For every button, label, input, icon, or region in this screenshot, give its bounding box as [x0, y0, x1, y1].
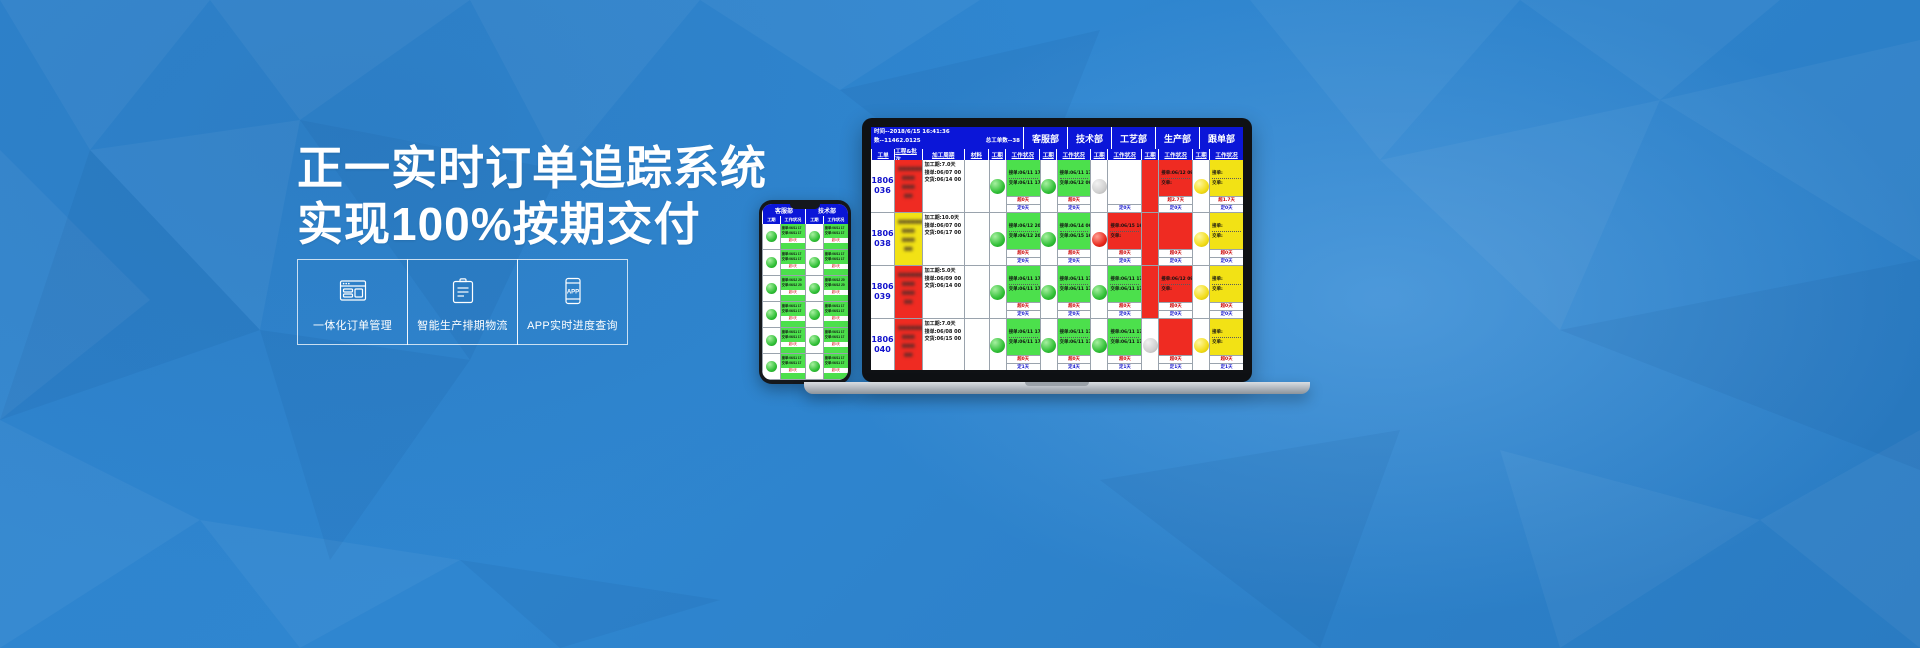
work-status-cell-工艺部: 接单:06/15 16交单:超0天定0天: [1107, 213, 1141, 265]
feature-item-order-management[interactable]: 一体化订单管理: [297, 259, 408, 345]
phone-status-cell: 接单:06/12 20交单:06/12 20超0天: [823, 276, 848, 301]
deliver-date: 交单:06/11 17: [825, 335, 847, 340]
deliver-date: 交单:06/11 17: [782, 335, 804, 340]
topbar-count: 数--11462.0125: [874, 137, 921, 146]
phone-status-cell: 接单:06/12 20交单:06/12 20超0天: [780, 276, 805, 301]
duration-cell-工艺部: [1090, 160, 1107, 212]
overdue-tag: 超0天: [1007, 249, 1040, 257]
date-separator: [1060, 231, 1089, 232]
duration-cell-跟单部: [1192, 266, 1209, 318]
work-status-cell-工艺部: 接单:06/11 17交单:06/11 17超0天定1天: [1107, 319, 1141, 370]
phone-duration-cell: [805, 224, 823, 249]
deliver-date: 交单:06/11 17: [1110, 286, 1139, 293]
phone-overdue-tag: 超0天: [824, 238, 848, 243]
due-tag: 定0天: [1210, 310, 1243, 318]
deliver-date: 交单:06/12 20: [825, 283, 847, 288]
phone-col-duration: 工期: [805, 216, 823, 224]
feature-item-production-scheduling[interactable]: 智能生产排期物流: [407, 259, 518, 345]
phone-status-cell: 接单:06/11 17交单:06/11 17超0天: [780, 250, 805, 275]
work-status-cell-生产部: 接单:06/12 09交单:超2.7天定0天: [1158, 160, 1192, 212]
cycle-line: 加工期:5.0天: [925, 268, 962, 276]
phone-screen: 客服部 技术部 工期 工作状况 工期 工作状况 接单:06/11 17交单:06…: [762, 204, 848, 380]
wo-suffix: 040: [874, 345, 891, 355]
processing-cycle-cell: 加工期:7.0天接单:06/08 00交货:06/15 00: [922, 319, 964, 370]
deliver-date: 交单:: [1110, 233, 1139, 240]
project-batch-cell: ■■■■■■■■■■■■ ■■: [894, 160, 922, 212]
phone-overdue-tag: 超0天: [824, 290, 848, 295]
cycle-line: 接单:06/08 00: [925, 329, 962, 337]
status-dot-green: [809, 361, 820, 372]
table-row[interactable]: 1806036■■■■■■■■■■■■ ■■加工期:7.0天接单:06/07 0…: [871, 160, 1243, 213]
deliver-date: 交单:06/11 17: [1009, 180, 1038, 187]
topbar-total: 总工单数--38: [986, 137, 1020, 146]
deliver-date: 交单:06/11 17: [1110, 339, 1139, 346]
phone-overdue-tag: 超0天: [824, 316, 848, 321]
deliver-date: 交单:06/15 16: [1060, 233, 1089, 240]
status-dot-green: [990, 179, 1005, 194]
overdue-tag: 超0天: [1058, 355, 1091, 363]
phone-status-cell: 接单:06/11 17交单:06/11 17超0天: [823, 302, 848, 327]
status-dot-green: [766, 257, 777, 268]
work-status-cell-跟单部: 接单:交单:超0天定1天: [1209, 319, 1243, 370]
wo-suffix: 036: [874, 186, 891, 196]
date-separator: [1212, 337, 1241, 338]
duration-cell-客服部: [989, 319, 1006, 370]
overdue-tag: 超0天: [1210, 249, 1243, 257]
feature-label: 一体化订单管理: [313, 317, 392, 333]
svg-text:APP: APP: [566, 289, 578, 295]
date-separator: [1060, 284, 1089, 285]
cycle-line: 交货:06/14 00: [925, 177, 962, 185]
cycle-line: 加工期:7.0天: [925, 162, 962, 170]
date-separator: [1212, 231, 1241, 232]
headline-line-1: 正一实时订单追踪系统: [297, 140, 717, 196]
cycle-line: 交货:06/14 00: [925, 283, 962, 291]
status-dot-green: [1092, 338, 1107, 353]
status-dot-yel: [1194, 338, 1209, 353]
due-tag: 定1天: [1210, 363, 1243, 370]
phone-duration-cell: [762, 354, 780, 379]
laptop-base: [804, 382, 1310, 394]
phone-duration-cell: [762, 276, 780, 301]
phone-overdue-tag: 超0天: [781, 342, 805, 347]
date-separator: [1009, 337, 1038, 338]
date-separator: [1212, 284, 1241, 285]
duration-cell-客服部: [989, 160, 1006, 212]
cycle-line: 接单:06/07 00: [925, 170, 962, 178]
work-status-cell-跟单部: 接单:交单:超0天定0天: [1209, 266, 1243, 318]
wo-suffix: 038: [874, 239, 891, 249]
due-tag: 定1天: [1007, 363, 1040, 370]
status-dot-green: [809, 231, 820, 242]
phone-col-status: 工作状况: [823, 216, 848, 224]
phone-status-cell: 接单:06/11 17交单:06/11 17超0天: [780, 224, 805, 249]
project-batch-cell: ■■■■■■■■■■■■ ■■: [894, 213, 922, 265]
receive-date: 接单:06/12 09: [1161, 170, 1190, 177]
status-dot-grey: [1092, 179, 1107, 194]
cycle-line: 加工期:7.0天: [925, 321, 962, 329]
table-row[interactable]: 1806040■■■■■■■■■■■■ ■■加工期:7.0天接单:06/08 0…: [871, 319, 1243, 370]
work-status-cell-客服部: 接单:06/12 20交单:06/12 20超0天定0天: [1006, 213, 1040, 265]
headline-line-2: 实现100%按期交付: [297, 196, 717, 252]
duration-cell-技术部: [1040, 160, 1057, 212]
status-dot-grey: [1143, 338, 1158, 353]
overdue-tag: 超0天: [1007, 196, 1040, 204]
phone-overdue-tag: 超0天: [781, 238, 805, 243]
phone-status-cell: 接单:06/11 17交单:06/11 17超0天: [823, 354, 848, 379]
deliver-date: 交单:06/11 17: [782, 257, 804, 262]
work-status-cell-技术部: 接单:06/11 17交单:06/12 09超0天定0天: [1057, 160, 1091, 212]
date-separator: [1161, 284, 1190, 285]
date-separator: [1060, 178, 1089, 179]
overdue-tag: 超0天: [1210, 302, 1243, 310]
due-tag: 定0天: [1058, 204, 1091, 212]
table-row[interactable]: 1806039■■■■■■■■■■■■ ■■加工期:5.0天接单:06/09 0…: [871, 266, 1243, 319]
deliver-date: 交单:06/11 17: [825, 231, 847, 236]
phone-column-header: 工期 工作状况 工期 工作状况: [762, 216, 848, 224]
due-tag: 定0天: [1007, 310, 1040, 318]
due-tag: 定0天: [1058, 310, 1091, 318]
date-separator: [1009, 284, 1038, 285]
work-status-cell-工艺部: 接单:06/11 17交单:06/11 17超0天定0天: [1107, 266, 1141, 318]
duration-cell-客服部: [989, 266, 1006, 318]
status-dot-green: [766, 309, 777, 320]
dashboard-topbar: 时间--2018/6/15 16:41:36 数--11462.0125 总工单…: [871, 127, 1243, 149]
overdue-tag: 超0天: [1159, 302, 1192, 310]
department-header: 技术部: [1067, 127, 1111, 149]
work-status-cell-生产部: 超0天定0天: [1158, 213, 1192, 265]
phone-overdue-tag: 超0天: [824, 264, 848, 269]
status-dot-green: [1092, 285, 1107, 300]
status-dot-yel: [1194, 285, 1209, 300]
department-header: 生产部: [1155, 127, 1199, 149]
due-tag: 定0天: [1108, 257, 1141, 265]
receive-date: 接单:: [1212, 329, 1241, 336]
work-status-cell-跟单部: 接单:交单:超0天定0天: [1209, 213, 1243, 265]
duration-cell-技术部: [1040, 213, 1057, 265]
deliver-date: 交单:06/11 17: [1009, 286, 1038, 293]
overdue-tag: 超0天: [1159, 249, 1192, 257]
dashboard-screen: 时间--2018/6/15 16:41:36 数--11462.0125 总工单…: [871, 127, 1243, 370]
overdue-tag: 超0天: [1007, 302, 1040, 310]
deliver-date: 交单:: [1161, 286, 1190, 293]
deliver-date: 交单:06/11 17: [782, 231, 804, 236]
column-header: 加工周期: [922, 149, 964, 160]
receive-date: 接单:06/11 17: [1060, 329, 1089, 336]
deliver-date: 交单:: [1161, 180, 1190, 187]
duration-cell-工艺部: [1090, 319, 1107, 370]
due-tag: 定0天: [1210, 204, 1243, 212]
cycle-line: 加工期:10.0天: [925, 215, 962, 223]
duration-cell-技术部: [1040, 319, 1057, 370]
phone-table-row[interactable]: 接单:06/11 17交单:06/11 17超0天接单:06/11 17交单:0…: [762, 328, 848, 354]
material-cell: [964, 160, 989, 212]
status-dot-green: [809, 257, 820, 268]
status-dot-green: [990, 232, 1005, 247]
phone-table-row[interactable]: 接单:06/11 17交单:06/11 17超0天接单:06/11 17交单:0…: [762, 224, 848, 250]
wo-prefix: 1806: [871, 176, 893, 186]
phone-overdue-tag: 超0天: [824, 342, 848, 347]
overdue-tag: 超0天: [1058, 249, 1091, 257]
column-header: 工单: [871, 149, 894, 160]
laptop-mockup: 时间--2018/6/15 16:41:36 数--11462.0125 总工单…: [862, 118, 1310, 394]
phone-table-row[interactable]: 接单:06/12 20交单:06/12 20超0天接单:06/12 20交单:0…: [762, 276, 848, 302]
work-status-cell-技术部: 接单:06/11 17交单:06/11 17超0天定0天: [1057, 266, 1091, 318]
hero-banner: 正一实时订单追踪系统 实现100%按期交付 一体化订单管理: [0, 0, 1920, 648]
date-separator: [1110, 284, 1139, 285]
table-row[interactable]: 1806038■■■■■■■■■■■■ ■■加工期:10.0天接单:06/07 …: [871, 213, 1243, 266]
work-status-cell-客服部: 接单:06/11 17交单:06/11 17超0天定1天: [1006, 319, 1040, 370]
receive-date: 接单:06/11 17: [1060, 276, 1089, 283]
phone-overdue-tag: 超0天: [781, 264, 805, 269]
receive-date: 接单:06/11 17: [1009, 329, 1038, 336]
status-dot-red: [1092, 232, 1107, 247]
deliver-date: 交单:06/11 17: [825, 361, 847, 366]
hero-copy: 正一实时订单追踪系统 实现100%按期交付: [297, 140, 717, 252]
project-batch-cell: ■■■■■■■■■■■■ ■■: [894, 266, 922, 318]
department-header: 跟单部: [1199, 127, 1243, 149]
due-tag: 定0天: [1159, 204, 1192, 212]
deliver-date: 交单:06/11 17: [825, 309, 847, 314]
phone-notch: [790, 204, 820, 209]
receive-date: 接单:06/11 17: [1009, 170, 1038, 177]
phone-duration-cell: [805, 276, 823, 301]
phone-duration-cell: [805, 328, 823, 353]
cycle-line: 接单:06/07 00: [925, 223, 962, 231]
status-dot-yel: [1194, 232, 1209, 247]
department-header: 客服部: [1023, 127, 1067, 149]
due-tag: 定0天: [1007, 204, 1040, 212]
phone-col-status: 工作状况: [780, 216, 805, 224]
duration-cell-跟单部: [1192, 160, 1209, 212]
deliver-date: 交单:06/11 17: [1060, 339, 1089, 346]
column-header: 工期: [988, 149, 1005, 160]
work-status-cell-客服部: 接单:06/11 17交单:06/11 17超0天定0天: [1006, 266, 1040, 318]
deliver-date: 交单:06/12 09: [1060, 180, 1089, 187]
due-tag: 定0天: [1159, 310, 1192, 318]
cycle-line: 交货:06/15 00: [925, 336, 962, 344]
topbar-meta: 时间--2018/6/15 16:41:36 数--11462.0125 总工单…: [871, 127, 1023, 149]
date-separator: [1161, 178, 1190, 179]
due-tag: 定4天: [1058, 363, 1091, 370]
receive-date: 接单:: [1212, 223, 1241, 230]
processing-cycle-cell: 加工期:5.0天接单:06/09 00交货:06/14 00: [922, 266, 964, 318]
status-dot-yel: [1194, 179, 1209, 194]
deliver-date: 交单:: [1212, 286, 1241, 293]
phone-duration-cell: [805, 354, 823, 379]
column-header: 工作状况: [1107, 149, 1141, 160]
work-order-cell: 1806036: [871, 160, 894, 212]
phone-duration-cell: [762, 328, 780, 353]
column-header: 工期: [1141, 149, 1158, 160]
laptop-lid: 时间--2018/6/15 16:41:36 数--11462.0125 总工单…: [862, 118, 1252, 382]
overdue-tag: 超0天: [1058, 196, 1091, 204]
work-status-cell-工艺部: 定0天: [1107, 160, 1141, 212]
status-dot-green: [990, 338, 1005, 353]
status-dot-green: [809, 335, 820, 346]
receive-date: 接单:06/11 17: [1110, 329, 1139, 336]
overdue-tag: 超1.7天: [1210, 196, 1243, 204]
phone-overdue-tag: 超0天: [781, 368, 805, 373]
due-tag: 定1天: [1159, 363, 1192, 370]
due-tag: 定0天: [1058, 257, 1091, 265]
date-separator: [1110, 231, 1139, 232]
phone-duration-cell: [805, 250, 823, 275]
phone-mockup: 客服部 技术部 工期 工作状况 工期 工作状况 接单:06/11 17交单:06…: [759, 200, 851, 384]
phone-col-duration: 工期: [762, 216, 780, 224]
phone-overdue-tag: 超0天: [824, 368, 848, 373]
receive-date: 接单:06/11 17: [1009, 276, 1038, 283]
column-header: 工期: [1090, 149, 1107, 160]
deliver-date: 交单:06/11 17: [782, 361, 804, 366]
status-dot-green: [766, 231, 777, 242]
date-separator: [1009, 178, 1038, 179]
feature-item-app-progress-query[interactable]: APP APP实时进度查询: [517, 259, 628, 345]
project-batch-cell: ■■■■■■■■■■■■ ■■: [894, 319, 922, 370]
deliver-date: 交单:06/12 20: [782, 283, 804, 288]
department-header-row: 客服部技术部工艺部生产部跟单部: [1023, 127, 1243, 149]
work-order-cell: 1806038: [871, 213, 894, 265]
duration-cell-工艺部: [1090, 213, 1107, 265]
processing-cycle-cell: 加工期:7.0天接单:06/07 00交货:06/14 00: [922, 160, 964, 212]
date-separator: [1009, 231, 1038, 232]
cycle-line: 交货:06/17 00: [925, 230, 962, 238]
phone-duration-cell: [762, 224, 780, 249]
phone-overdue-tag: 超0天: [781, 290, 805, 295]
due-tag: 定0天: [1210, 257, 1243, 265]
duration-cell-客服部: [989, 213, 1006, 265]
date-separator: [1110, 337, 1139, 338]
receive-date: 接单:06/12 20: [1009, 223, 1038, 230]
work-status-cell-生产部: 接单:06/12 09交单:超0天定0天: [1158, 266, 1192, 318]
column-header: 工期: [1192, 149, 1209, 160]
mobile-app-icon: APP: [562, 272, 584, 310]
order-table: 1806036■■■■■■■■■■■■ ■■加工期:7.0天接单:06/07 0…: [871, 160, 1243, 370]
receive-date: 接单:06/14 06: [1060, 223, 1089, 230]
wo-prefix: 1806: [871, 335, 893, 345]
status-dot-green: [1041, 285, 1056, 300]
feature-label: APP实时进度查询: [527, 317, 618, 333]
due-tag: 定0天: [1007, 257, 1040, 265]
work-status-cell-跟单部: 接单:交单:超1.7天定0天: [1209, 160, 1243, 212]
column-header: 工程&批次: [894, 149, 922, 160]
overdue-tag: 超0天: [1108, 355, 1141, 363]
date-separator: [1060, 337, 1089, 338]
due-tag: 定0天: [1159, 257, 1192, 265]
feature-label: 智能生产排期物流: [417, 317, 507, 333]
receive-date: 接单:: [1212, 170, 1241, 177]
phone-duration-cell: [762, 250, 780, 275]
phone-status-cell: 接单:06/11 17交单:06/11 17超0天: [780, 328, 805, 353]
cycle-line: 接单:06/09 00: [925, 276, 962, 284]
deliver-date: 交单:06/11 17: [782, 309, 804, 314]
work-status-cell-技术部: 接单:06/14 06交单:06/15 16超0天定0天: [1057, 213, 1091, 265]
overdue-tag: 超0天: [1159, 355, 1192, 363]
phone-status-cell: 接单:06/11 17交单:06/11 17超0天: [823, 328, 848, 353]
wo-prefix: 1806: [871, 282, 893, 292]
phone-status-cell: 接单:06/11 17交单:06/11 17超0天: [780, 354, 805, 379]
status-dot-green: [990, 285, 1005, 300]
status-dot-green: [1041, 232, 1056, 247]
receive-date: 接单:06/11 17: [1110, 276, 1139, 283]
overdue-tag: 超0天: [1058, 302, 1091, 310]
due-tag: 定0天: [1108, 204, 1141, 212]
topbar-time: 时间--2018/6/15 16:41:36: [874, 128, 1020, 137]
status-dot-green: [766, 361, 777, 372]
column-header: 工作状况: [1209, 149, 1243, 160]
duration-cell-生产部: [1141, 319, 1158, 370]
department-header: 工艺部: [1111, 127, 1155, 149]
phone-table-row[interactable]: 接单:06/11 17交单:06/11 17超0天接单:06/11 17交单:0…: [762, 250, 848, 276]
deliver-date: 交单:06/12 20: [1009, 233, 1038, 240]
column-header: 工作状况: [1056, 149, 1090, 160]
overdue-tag: 超0天: [1210, 355, 1243, 363]
deliver-date: 交单:06/11 17: [1060, 286, 1089, 293]
overdue-tag: 超0天: [1108, 302, 1141, 310]
clipboard-schedule-icon: [450, 272, 476, 310]
date-separator: [1212, 178, 1241, 179]
duration-cell-生产部: [1141, 266, 1158, 318]
phone-status-cell: 接单:06/11 17交单:06/11 17超0天: [780, 302, 805, 327]
deliver-date: 交单:: [1212, 180, 1241, 187]
phone-status-cell: 接单:06/11 17交单:06/11 17超0天: [823, 250, 848, 275]
deliver-date: 交单:06/11 17: [825, 257, 847, 262]
overdue-tag: 超0天: [1007, 355, 1040, 363]
receive-date: 接单:06/11 17: [1060, 170, 1089, 177]
work-status-cell-客服部: 接单:06/11 17交单:06/11 17超0天定0天: [1006, 160, 1040, 212]
column-header-row: 工单工程&批次加工周期材料工期工作状况工期工作状况工期工作状况工期工作状况工期工…: [871, 149, 1243, 160]
work-status-cell-技术部: 接单:06/11 17交单:06/11 17超0天定4天: [1057, 319, 1091, 370]
column-header: 材料: [964, 149, 989, 160]
processing-cycle-cell: 加工期:10.0天接单:06/07 00交货:06/17 00: [922, 213, 964, 265]
column-header: 工作状况: [1005, 149, 1039, 160]
feature-list: 一体化订单管理 智能生产排期物流 APP: [297, 259, 628, 345]
duration-cell-跟单部: [1192, 213, 1209, 265]
status-dot-green: [809, 283, 820, 294]
duration-cell-生产部: [1141, 213, 1158, 265]
duration-cell-技术部: [1040, 266, 1057, 318]
phone-status-cell: 接单:06/11 17交单:06/11 17超0天: [823, 224, 848, 249]
material-cell: [964, 266, 989, 318]
wo-suffix: 039: [874, 292, 891, 302]
material-cell: [964, 213, 989, 265]
deliver-date: 交单:: [1212, 233, 1241, 240]
phone-table-row[interactable]: 接单:06/11 17交单:06/11 17超0天接单:06/11 17交单:0…: [762, 302, 848, 328]
due-tag: 定0天: [1108, 310, 1141, 318]
due-tag: 定1天: [1108, 363, 1141, 370]
duration-cell-生产部: [1141, 160, 1158, 212]
phone-table-row[interactable]: 接单:06/11 17交单:06/11 17超0天接单:06/11 17交单:0…: [762, 354, 848, 380]
wo-prefix: 1806: [871, 229, 893, 239]
duration-cell-跟单部: [1192, 319, 1209, 370]
work-status-cell-生产部: 超0天定1天: [1158, 319, 1192, 370]
receive-date: 接单:06/15 16: [1110, 223, 1139, 230]
phone-grid: 接单:06/11 17交单:06/11 17超0天接单:06/11 17交单:0…: [762, 224, 848, 380]
status-dot-green: [766, 283, 777, 294]
work-order-cell: 1806040: [871, 319, 894, 370]
duration-cell-工艺部: [1090, 266, 1107, 318]
column-header: 工期: [1039, 149, 1056, 160]
deliver-date: 交单:06/11 17: [1009, 339, 1038, 346]
material-cell: [964, 319, 989, 370]
phone-overdue-tag: 超0天: [781, 316, 805, 321]
overdue-tag: 超0天: [1108, 249, 1141, 257]
receive-date: 接单:06/12 09: [1161, 276, 1190, 283]
status-dot-green: [1041, 338, 1056, 353]
deliver-date: 交单:: [1212, 339, 1241, 346]
phone-duration-cell: [805, 302, 823, 327]
status-dot-green: [809, 309, 820, 320]
